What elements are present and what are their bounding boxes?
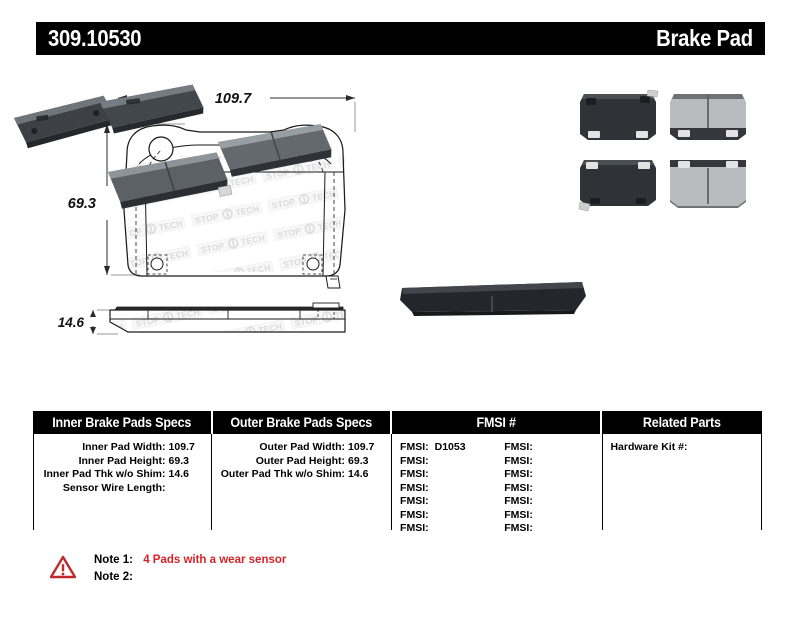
table-header-row: Inner Brake Pads Specs Outer Brake Pads … <box>33 411 762 434</box>
wear-sensor-tab <box>326 276 340 288</box>
svg-text:69.3: 69.3 <box>68 196 96 212</box>
page-header-bar: 309.10530 Brake Pad <box>36 22 765 55</box>
part-number: 309.10530 <box>48 25 141 52</box>
outer-specs-cell: Outer Pad Width: 109.7 Outer Pad Height:… <box>213 434 391 536</box>
fmsi-row: FMSI: <box>504 441 600 455</box>
related-parts-cell: Hardware Kit #: <box>602 434 762 536</box>
technical-drawing-area: STOP TECH 109.7 <box>0 60 800 390</box>
fmsi-row: FMSI: <box>504 455 600 469</box>
column-header-related-parts: Related Parts <box>602 411 762 434</box>
note-row: Note 1: 4 Pads with a wear sensor <box>94 552 286 569</box>
warning-triangle-icon <box>50 555 76 579</box>
spec-row: Inner Pad Thk w/o Shim: 14.6 <box>33 468 211 482</box>
table-body: Inner Pad Width: 109.7 Inner Pad Height:… <box>33 434 762 536</box>
svg-text:109.7: 109.7 <box>215 91 252 107</box>
fmsi-row: FMSI: <box>400 482 496 496</box>
column-header-inner-specs: Inner Brake Pads Specs <box>33 411 211 434</box>
fmsi-row: FMSI: <box>400 455 496 469</box>
svg-text:14.6: 14.6 <box>58 315 85 330</box>
spec-row: Outer Pad Height: 69.3 <box>213 455 391 469</box>
note-row: Note 2: <box>94 569 286 586</box>
specifications-table: Inner Brake Pads Specs Outer Brake Pads … <box>33 411 762 529</box>
fmsi-row: FMSI: <box>400 509 496 523</box>
spec-row: Inner Pad Width: 109.7 <box>33 441 211 455</box>
notes-section: Note 1: 4 Pads with a wear sensor Note 2… <box>50 552 286 586</box>
fmsi-row: FMSI: <box>400 495 496 509</box>
spec-row: Outer Pad Thk w/o Shim: 14.6 <box>213 468 391 482</box>
product-photo-pad-edge <box>400 282 586 316</box>
fmsi-row: FMSI: <box>400 522 496 536</box>
brake-pad-side-drawing <box>100 303 360 344</box>
fmsi-row: FMSI: <box>504 468 600 482</box>
fmsi-row: FMSI: <box>400 468 496 482</box>
fmsi-row: FMSI: <box>504 522 600 536</box>
fmsi-cell: FMSI:D1053 FMSI: FMSI: FMSI: FMSI: <box>392 434 600 536</box>
fmsi-row: FMSI: <box>504 482 600 496</box>
fmsi-row: FMSI: <box>504 509 600 523</box>
column-header-fmsi: FMSI # <box>392 411 600 434</box>
spec-row: Outer Pad Width: 109.7 <box>213 441 391 455</box>
product-photo-pad-grid <box>579 90 746 211</box>
fmsi-row: FMSI:D1053 <box>400 441 496 455</box>
related-parts-row: Hardware Kit #: <box>602 441 762 455</box>
spec-row: Inner Pad Height: 69.3 <box>33 455 211 469</box>
fmsi-column-left: FMSI:D1053 FMSI: FMSI: FMSI: FMSI: <box>392 441 496 536</box>
inner-specs-cell: Inner Pad Width: 109.7 Inner Pad Height:… <box>33 434 211 536</box>
fmsi-column-right: FMSI: FMSI: FMSI: FMSI: FMSI: <box>496 441 600 536</box>
column-header-outer-specs: Outer Brake Pads Specs <box>213 411 391 434</box>
spec-row: Sensor Wire Length: <box>33 482 211 496</box>
product-type-title: Brake Pad <box>656 25 753 52</box>
fmsi-row: FMSI: <box>504 495 600 509</box>
